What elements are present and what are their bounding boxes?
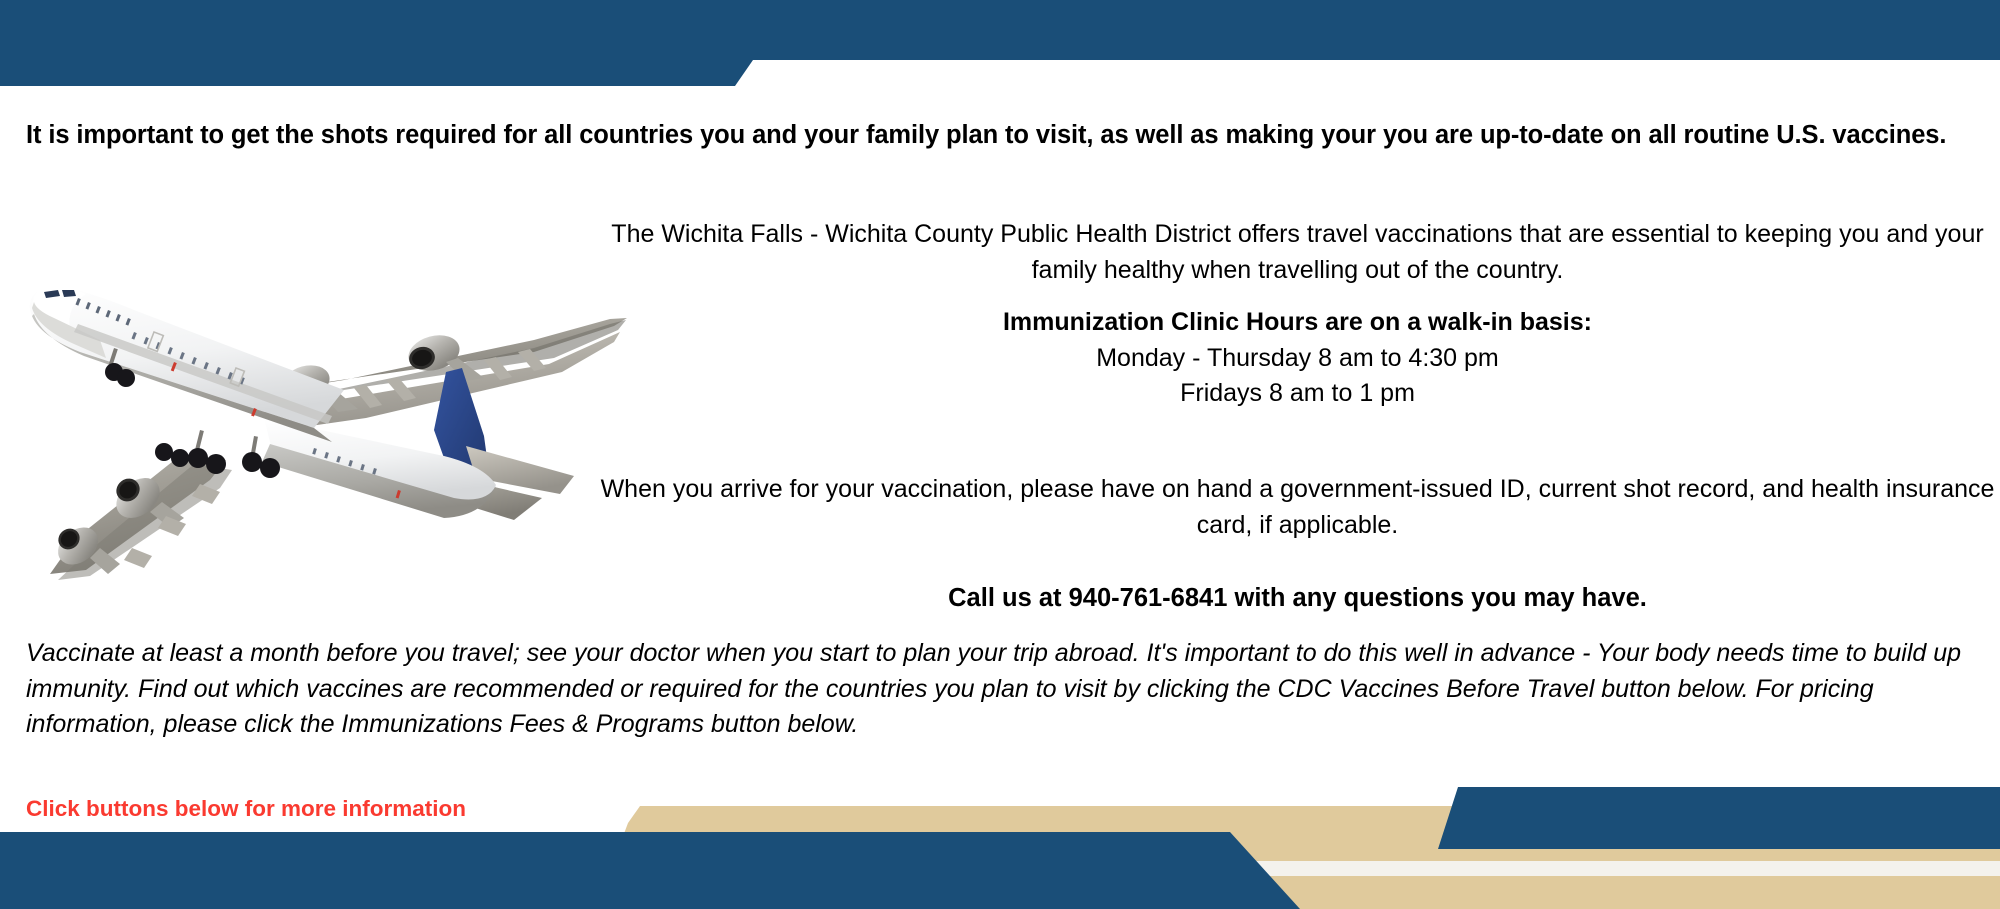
page-headline: It is important to get the shots require… bbox=[26, 119, 1981, 153]
clinic-hours-weekday: Monday - Thursday 8 am to 4:30 pm bbox=[600, 341, 1995, 377]
call-us-line: Call us at 940-761-6841 with any questio… bbox=[600, 584, 1995, 613]
travel-advice-paragraph: Vaccinate at least a month before you tr… bbox=[26, 636, 1981, 743]
intro-paragraph: The Wichita Falls - Wichita County Publi… bbox=[600, 217, 1995, 288]
clinic-hours-block: Immunization Clinic Hours are on a walk-… bbox=[600, 305, 1995, 412]
clinic-hours-heading: Immunization Clinic Hours are on a walk-… bbox=[600, 305, 1995, 341]
clinic-hours-friday: Fridays 8 am to 1 pm bbox=[600, 376, 1995, 412]
travel-vaccination-info-panel: It is important to get the shots require… bbox=[0, 0, 2000, 909]
click-buttons-note: Click buttons below for more information bbox=[26, 796, 466, 822]
arrival-requirements-paragraph: When you arrive for your vaccination, pl… bbox=[600, 472, 1995, 543]
content-region: It is important to get the shots require… bbox=[0, 0, 2000, 909]
